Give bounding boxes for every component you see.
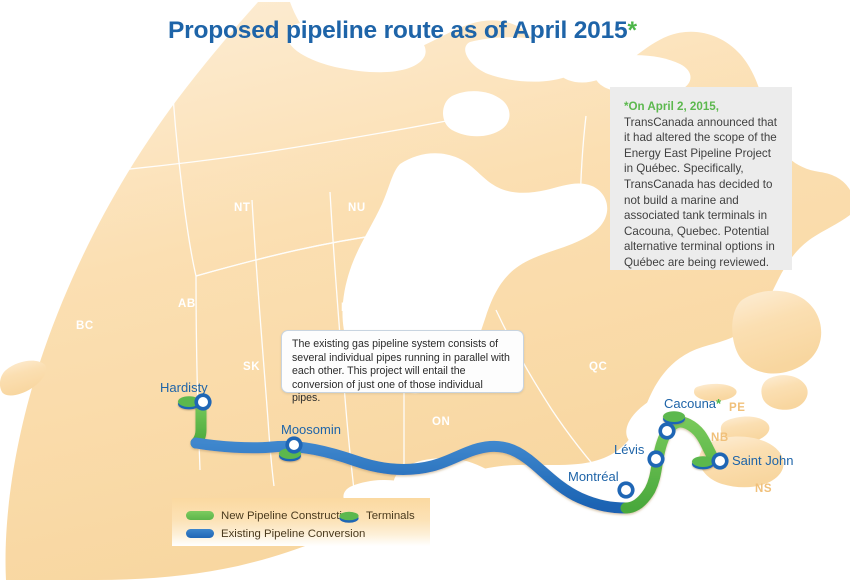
province-label-nb: NB (711, 432, 729, 444)
page-title: Proposed pipeline route as of April 2015… (168, 17, 637, 45)
page-title-asterisk: * (627, 17, 636, 44)
note-box-body: TransCanada announced that it had altere… (624, 115, 779, 271)
city-marker-montreal[interactable] (617, 481, 634, 498)
page-title-text: Proposed pipeline route as of April 2015 (168, 17, 627, 44)
province-label-pe: PE (729, 402, 746, 414)
map-figure: Proposed pipeline route as of April 2015… (0, 0, 851, 580)
city-label-moosomin: Moosomin (281, 422, 341, 437)
city-marker-hardisty[interactable] (194, 393, 211, 410)
legend-item-existing-pipeline: Existing Pipeline Conversion (186, 525, 365, 543)
newfoundland (732, 291, 821, 374)
city-label-montreal-text: Montréal (568, 469, 619, 484)
city-marker-saint-john[interactable] (711, 452, 728, 469)
legend-label-terminals: Terminals (366, 510, 415, 522)
legend-label-new-pipeline: New Pipeline Construction (221, 510, 355, 522)
legend-label-existing-pipeline: Existing Pipeline Conversion (221, 528, 365, 540)
city-marker-levis[interactable] (647, 450, 664, 467)
terminal-cacouna[interactable] (663, 411, 685, 424)
province-label-on: ON (432, 416, 450, 428)
province-label-bc: BC (76, 320, 94, 332)
city-label-levis: Lévis (614, 442, 644, 457)
province-label-ab: AB (178, 298, 196, 310)
terminal-saint-john[interactable] (692, 456, 714, 469)
city-label-moosomin-text: Moosomin (281, 422, 341, 437)
city-label-cacouna: Cacouna* (664, 396, 721, 411)
city-label-cacouna-asterisk: * (716, 396, 721, 411)
city-label-saint-john: Saint John (732, 453, 793, 468)
april-2015-note-box: *On April 2, 2015, TransCanada announced… (610, 87, 792, 270)
city-marker-cacouna[interactable] (658, 422, 675, 439)
green-line-swatch-icon (186, 511, 214, 520)
pipe-note-text: The existing gas pipeline system consist… (292, 338, 513, 406)
city-label-saint-john-text: Saint John (732, 453, 793, 468)
blue-line-swatch-icon (186, 529, 214, 538)
existing-pipeline-note-box: The existing gas pipeline system consist… (281, 330, 524, 393)
province-label-qc: QC (589, 361, 607, 373)
legend-item-terminals: Terminals (338, 507, 415, 525)
province-label-yt: YT (63, 127, 79, 139)
city-label-montreal: Montréal (568, 469, 619, 484)
cape-breton (761, 375, 807, 410)
legend-item-new-pipeline: New Pipeline Construction (186, 507, 355, 525)
city-label-hardisty-text: Hardisty (160, 380, 208, 395)
note-box-heading: *On April 2, 2015, (624, 99, 779, 115)
city-marker-moosomin[interactable] (285, 436, 302, 453)
legend: New Pipeline Construction Terminals Exis… (172, 498, 430, 546)
city-label-cacouna-text: Cacouna (664, 396, 716, 411)
province-label-nt: NT (234, 202, 251, 214)
province-label-mb: MB (341, 302, 360, 314)
city-label-hardisty: Hardisty (160, 380, 208, 395)
province-label-sk: SK (243, 361, 260, 373)
province-label-nu: NU (348, 202, 366, 214)
city-label-levis-text: Lévis (614, 442, 644, 457)
province-label-ns: NS (755, 483, 772, 495)
terminal-disc-swatch-icon (338, 510, 360, 522)
